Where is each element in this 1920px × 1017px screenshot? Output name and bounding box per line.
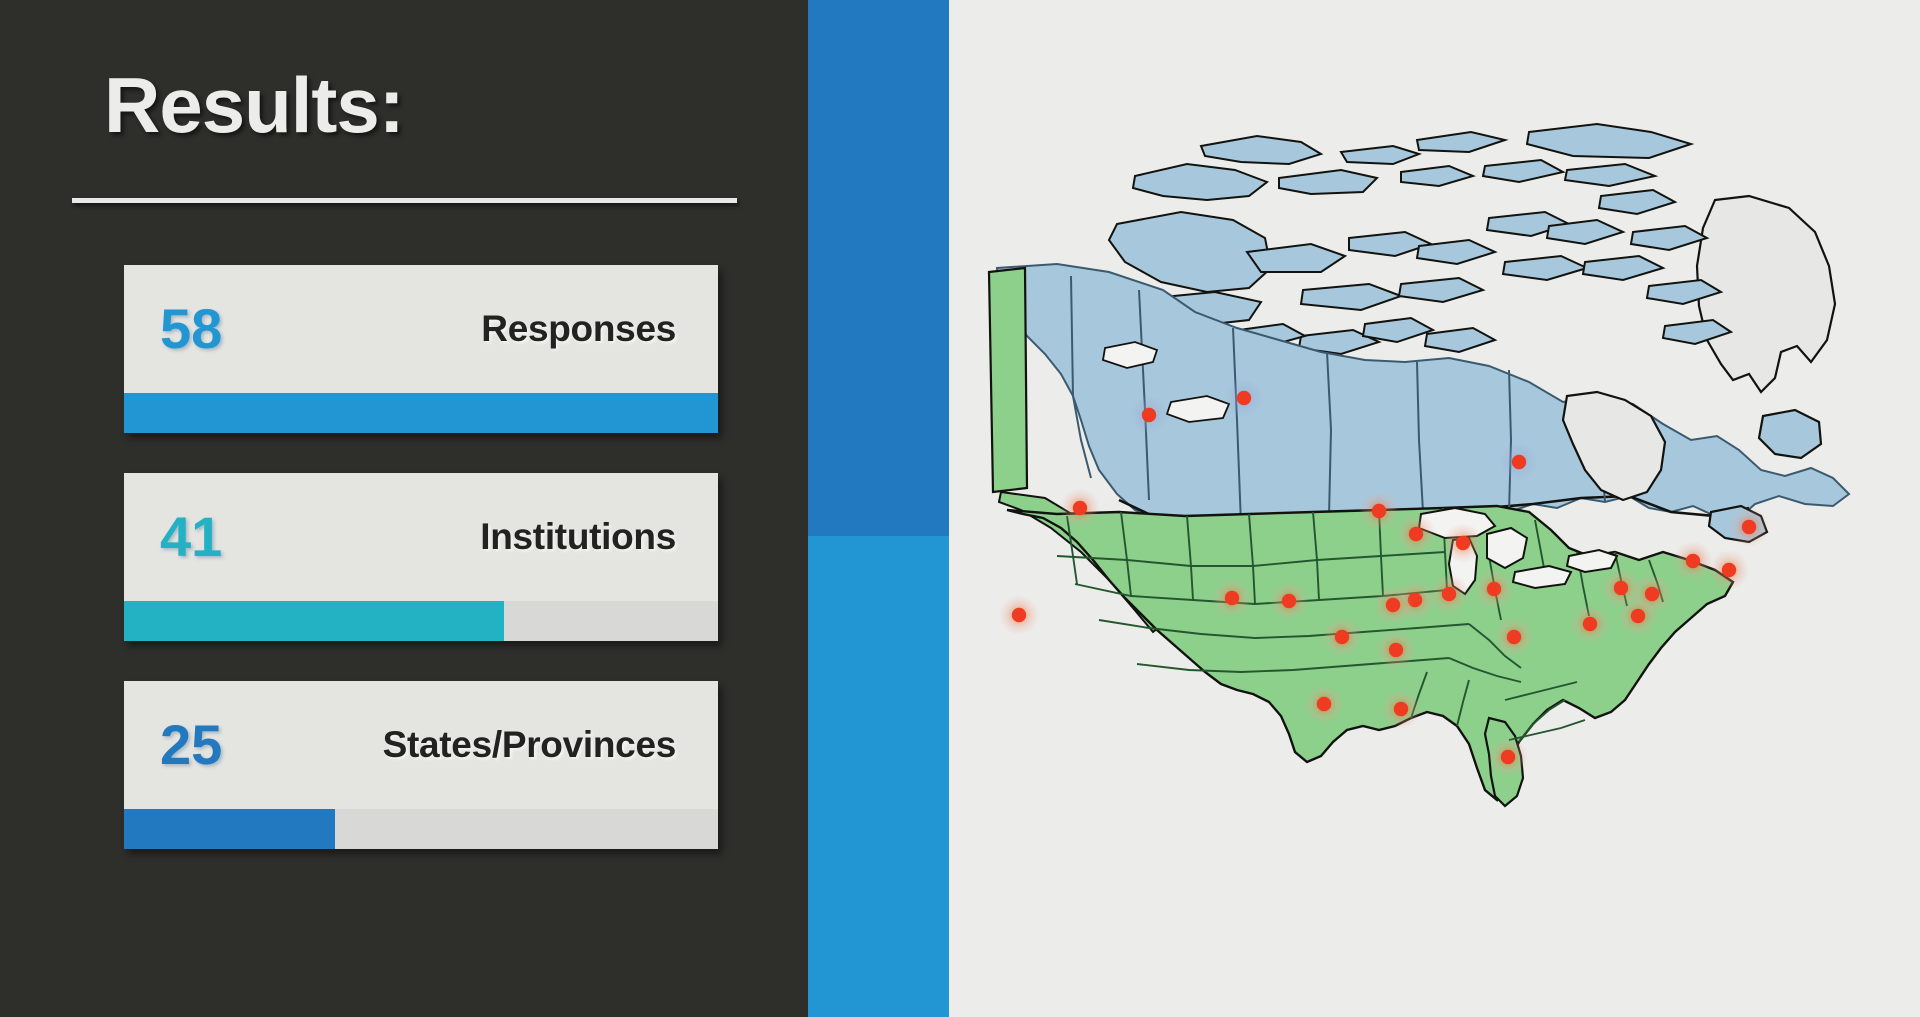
progress-fill — [124, 393, 718, 433]
accent-stripe-top — [808, 0, 949, 536]
marker-dot[interactable] — [1614, 581, 1628, 595]
progress-track — [124, 601, 718, 641]
marker-california[interactable] — [999, 595, 1039, 635]
progress-fill — [124, 809, 335, 849]
marker-dot[interactable] — [1409, 527, 1423, 541]
title-divider — [72, 198, 737, 203]
marker-dot[interactable] — [1394, 702, 1408, 716]
map-panel — [949, 0, 1920, 1017]
marker-dot[interactable] — [1722, 563, 1736, 577]
stat-card-row: 41 Institutions — [124, 473, 718, 601]
marker-dot[interactable] — [1335, 630, 1349, 644]
nova-scotia-shape — [1709, 506, 1767, 542]
marker-dot[interactable] — [1372, 504, 1386, 518]
marker-dot[interactable] — [1583, 617, 1597, 631]
usa-mainland-shape — [1007, 506, 1733, 800]
marker-dot[interactable] — [1487, 582, 1501, 596]
marker-dot[interactable] — [1501, 750, 1515, 764]
marker-dot[interactable] — [1142, 408, 1156, 422]
stat-card-states-provinces[interactable]: 25 States/Provinces — [124, 681, 718, 849]
stat-card-responses[interactable]: 58 Responses — [124, 265, 718, 433]
marker-dot[interactable] — [1686, 554, 1700, 568]
newfoundland-shape — [1759, 410, 1821, 458]
stat-label: Institutions — [480, 516, 676, 558]
marker-dot[interactable] — [1507, 630, 1521, 644]
stat-card-row: 25 States/Provinces — [124, 681, 718, 809]
marker-dot[interactable] — [1442, 587, 1456, 601]
stat-value: 25 — [160, 717, 222, 773]
progress-track — [124, 393, 718, 433]
marker-dot[interactable] — [1631, 609, 1645, 623]
alaska-panhandle-strip — [989, 268, 1027, 492]
marker-dot[interactable] — [1389, 643, 1403, 657]
stat-card-institutions[interactable]: 41 Institutions — [124, 473, 718, 641]
marker-dot[interactable] — [1645, 587, 1659, 601]
marker-dot[interactable] — [1512, 455, 1526, 469]
left-content-panel: Results: 58 Responses 41 Institutions — [0, 0, 808, 1017]
stat-card-row: 58 Responses — [124, 265, 718, 393]
accent-stripe-bottom — [808, 536, 949, 1017]
progress-track — [124, 809, 718, 849]
marker-dot[interactable] — [1282, 594, 1296, 608]
marker-dot[interactable] — [1317, 697, 1331, 711]
marker-dot[interactable] — [1742, 520, 1756, 534]
stat-value: 41 — [160, 509, 222, 565]
marker-dot[interactable] — [1408, 593, 1422, 607]
marker-dot[interactable] — [1386, 598, 1400, 612]
marker-dot[interactable] — [1012, 608, 1026, 622]
marker-dot[interactable] — [1237, 391, 1251, 405]
stat-label: Responses — [481, 308, 676, 350]
progress-fill — [124, 601, 504, 641]
marker-dot[interactable] — [1073, 501, 1087, 515]
marker-dot[interactable] — [1456, 536, 1470, 550]
stat-value: 58 — [160, 301, 222, 357]
stat-label: States/Provinces — [383, 724, 676, 766]
accent-stripe — [808, 0, 949, 1017]
north-america-map — [949, 0, 1920, 1017]
page-title: Results: — [104, 66, 404, 144]
marker-dot[interactable] — [1225, 591, 1239, 605]
slide-canvas: Results: 58 Responses 41 Institutions — [0, 0, 1920, 1017]
